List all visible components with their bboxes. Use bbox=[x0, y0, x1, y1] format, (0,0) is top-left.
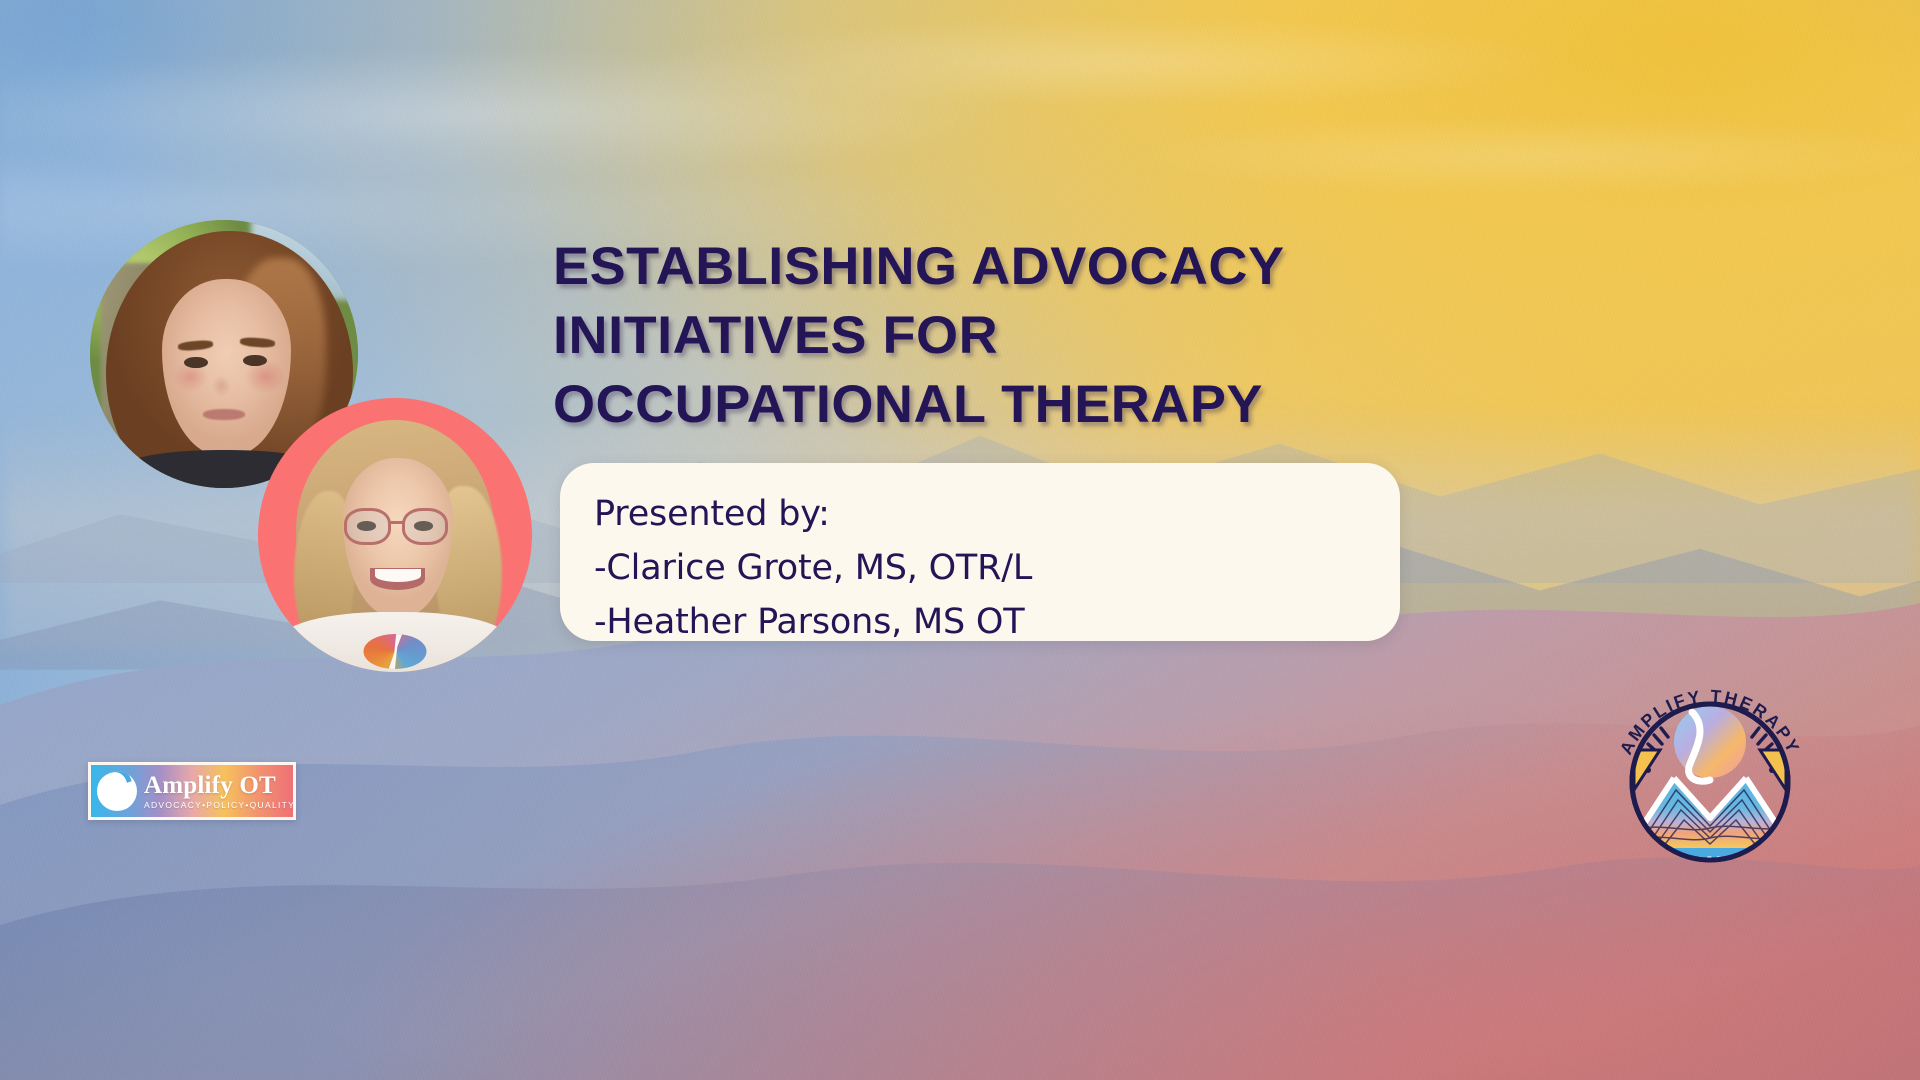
speaker-photo-heather-parsons bbox=[258, 398, 532, 672]
amplify-ot-tagline: ADVOCACY•POLICY•QUALITY bbox=[144, 801, 295, 810]
title-line-1: ESTABLISHING ADVOCACY bbox=[553, 232, 1379, 301]
headshot-eye-right bbox=[243, 355, 267, 367]
presentation-slide: ESTABLISHING ADVOCACY INITIATIVES FOR OC… bbox=[0, 0, 1920, 1080]
wave-circle-icon bbox=[97, 771, 137, 811]
eyeglasses-lens-right bbox=[402, 508, 449, 545]
headshot-mouth bbox=[203, 409, 246, 420]
eyeglasses-bridge bbox=[390, 521, 404, 524]
eyeglasses-lens-left bbox=[344, 508, 391, 545]
shirt-wave-circle-icon bbox=[363, 634, 426, 670]
presenter-name-2: -Heather Parsons, MS OT bbox=[594, 595, 1400, 649]
headshot-teeth bbox=[375, 569, 421, 582]
slide-title: ESTABLISHING ADVOCACY INITIATIVES FOR OC… bbox=[553, 232, 1363, 439]
amplify-ot-logo: Amplify OT ADVOCACY•POLICY•QUALITY bbox=[88, 762, 296, 820]
headshot-nose bbox=[212, 375, 231, 396]
amplify-ot-logo-bar: Amplify OT ADVOCACY•POLICY•QUALITY bbox=[91, 765, 293, 817]
headshot-smile bbox=[370, 568, 425, 590]
amplify-ot-logo-text: Amplify OT ADVOCACY•POLICY•QUALITY bbox=[144, 773, 295, 810]
title-line-3: OCCUPATIONAL THERAPY bbox=[553, 370, 1379, 439]
presenter-card: Presented by: -Clarice Grote, MS, OTR/L … bbox=[560, 463, 1400, 641]
presenter-name-1: -Clarice Grote, MS, OTR/L bbox=[594, 541, 1400, 595]
amplify-ot-name: Amplify OT bbox=[144, 773, 295, 798]
presented-by-label: Presented by: bbox=[594, 487, 1400, 541]
title-line-2: INITIATIVES FOR bbox=[553, 301, 1379, 370]
summit-banner-text: SUMMIT bbox=[1659, 852, 1761, 877]
amplify-therapy-summit-badge: AMPLIFY THERAPY bbox=[1604, 672, 1816, 884]
